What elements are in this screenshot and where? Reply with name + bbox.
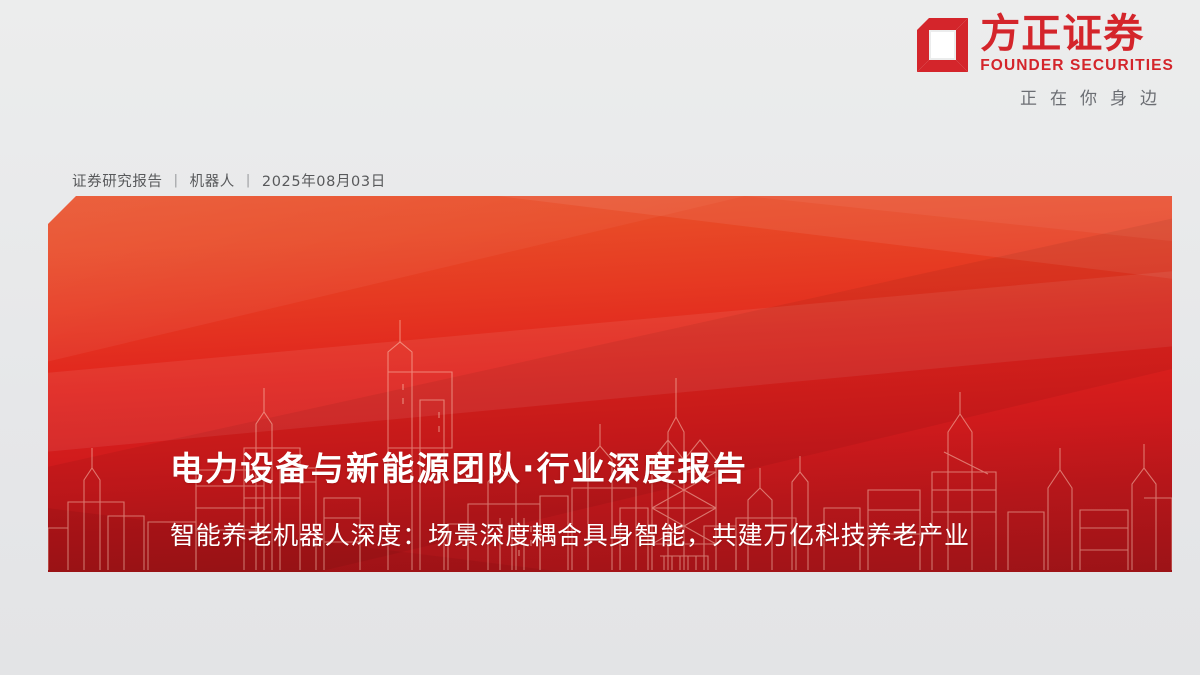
breadcrumb-industry: 机器人 bbox=[190, 170, 235, 191]
breadcrumb: 证券研究报告 | 机器人 | 2025年08月03日 bbox=[72, 170, 386, 191]
founder-cube-logo-icon bbox=[916, 17, 970, 73]
report-team-title: 电力设备与新能源团队·行业深度报告 bbox=[170, 442, 748, 490]
breadcrumb-category: 证券研究报告 bbox=[72, 170, 163, 191]
brand-name-en: FOUNDER SECURITIES bbox=[980, 57, 1174, 76]
brand-logo-block: 方正证券 FOUNDER SECURITIES 正在你身边 bbox=[916, 14, 1174, 109]
report-title: 智能养老机器人深度：场景深度耦合具身智能，共建万亿科技养老产业 bbox=[170, 516, 970, 552]
report-cover-page: 方正证券 FOUNDER SECURITIES 正在你身边 证券研究报告 | 机… bbox=[0, 0, 1200, 675]
breadcrumb-date: 2025年08月03日 bbox=[262, 170, 386, 191]
banner-text-layer: 电力设备与新能源团队·行业深度报告 智能养老机器人深度：场景深度耦合具身智能，共… bbox=[48, 196, 1172, 572]
breadcrumb-separator-2: | bbox=[246, 173, 251, 188]
logo-wordmark: 方正证券 FOUNDER SECURITIES bbox=[980, 14, 1174, 75]
logo-row: 方正证券 FOUNDER SECURITIES bbox=[916, 14, 1174, 75]
breadcrumb-separator-1: | bbox=[174, 173, 179, 188]
report-hero-banner: 电力设备与新能源团队·行业深度报告 智能养老机器人深度：场景深度耦合具身智能，共… bbox=[48, 196, 1172, 572]
brand-slogan: 正在你身边 bbox=[1020, 84, 1170, 109]
brand-name-cn: 方正证券 bbox=[980, 14, 1144, 55]
